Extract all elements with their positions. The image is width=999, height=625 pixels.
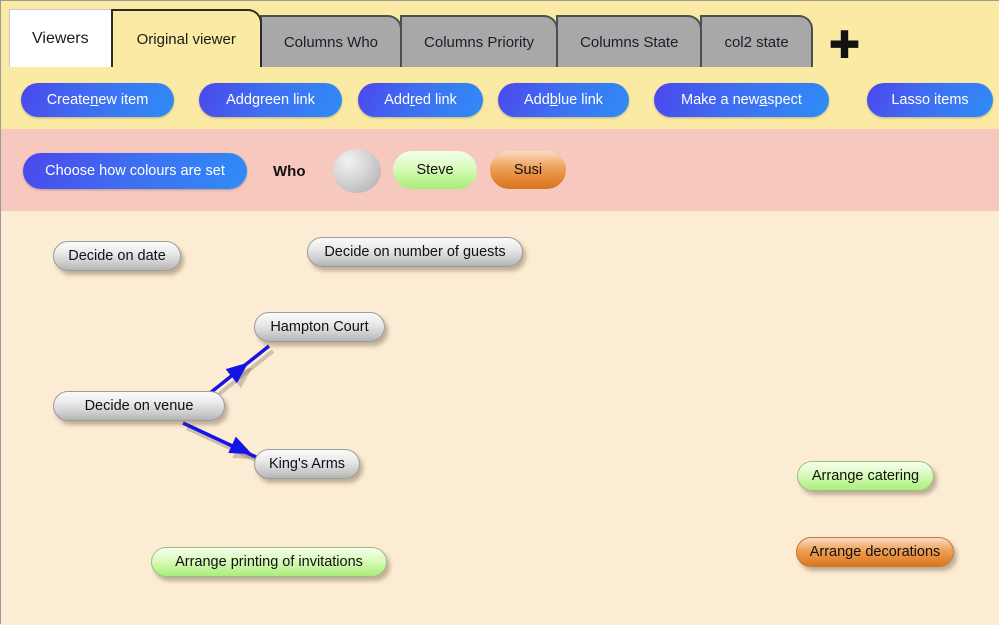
tab-original-viewer[interactable]: Original viewer <box>111 9 262 67</box>
diagram-node-decide-on-number-of-guests[interactable]: Decide on number of guests <box>307 237 523 267</box>
tab-strip: Viewers Original viewer Columns Who Colu… <box>9 9 861 67</box>
diagram-node-label: Decide on date <box>68 248 166 264</box>
create-new-item-button[interactable]: Create new item <box>21 83 174 117</box>
colour-swatch-unset[interactable] <box>333 149 381 193</box>
tab-columns-state[interactable]: Columns State <box>556 15 702 67</box>
diagram-node-label: Arrange printing of invitations <box>175 554 363 570</box>
add-red-link-button[interactable]: Add red link <box>358 83 483 117</box>
tab-bar: Viewers Original viewer Columns Who Colu… <box>1 1 999 67</box>
diagram-node-decide-on-venue[interactable]: Decide on venue <box>53 391 225 421</box>
diagram-node-label: Arrange decorations <box>810 544 941 560</box>
lasso-items-button[interactable]: Lasso items <box>867 83 993 117</box>
diagram-node-label: Decide on venue <box>85 398 194 414</box>
diagram-node-arrange-decorations[interactable]: Arrange decorations <box>796 537 954 567</box>
tab-col2-state[interactable]: col2 state <box>700 15 812 67</box>
choose-how-colours-are-set-button[interactable]: Choose how colours are set <box>23 153 247 189</box>
diagram-node-kings-arms[interactable]: King's Arms <box>254 449 360 479</box>
diagram-node-label: Arrange catering <box>812 468 919 484</box>
tab-columns-who[interactable]: Columns Who <box>260 15 402 67</box>
add-blue-link-button[interactable]: Add blue link <box>498 83 629 117</box>
diagram-canvas[interactable]: Decide on dateDecide on number of guests… <box>1 211 999 625</box>
colour-swatch-steve[interactable]: Steve <box>393 151 477 189</box>
diagram-node-decide-on-date[interactable]: Decide on date <box>53 241 181 271</box>
colour-swatch-susi[interactable]: Susi <box>490 151 566 189</box>
add-tab-plus-icon[interactable]: ✚ <box>829 31 861 61</box>
app-window: Viewers Original viewer Columns Who Colu… <box>0 0 999 624</box>
diagram-node-label: Hampton Court <box>270 319 368 335</box>
who-label: Who <box>273 163 305 180</box>
add-green-link-button[interactable]: Add green link <box>199 83 342 117</box>
diagram-node-arrange-catering[interactable]: Arrange catering <box>797 461 934 491</box>
tab-viewers-label[interactable]: Viewers <box>9 9 112 67</box>
diagram-node-label: Decide on number of guests <box>324 244 505 260</box>
tab-columns-priority[interactable]: Columns Priority <box>400 15 558 67</box>
diagram-node-arrange-printing-of-invitations[interactable]: Arrange printing of invitations <box>151 547 387 577</box>
diagram-node-hampton-court[interactable]: Hampton Court <box>254 312 385 342</box>
diagram-node-label: King's Arms <box>269 456 345 472</box>
make-a-new-aspect-button[interactable]: Make a new aspect <box>654 83 829 117</box>
